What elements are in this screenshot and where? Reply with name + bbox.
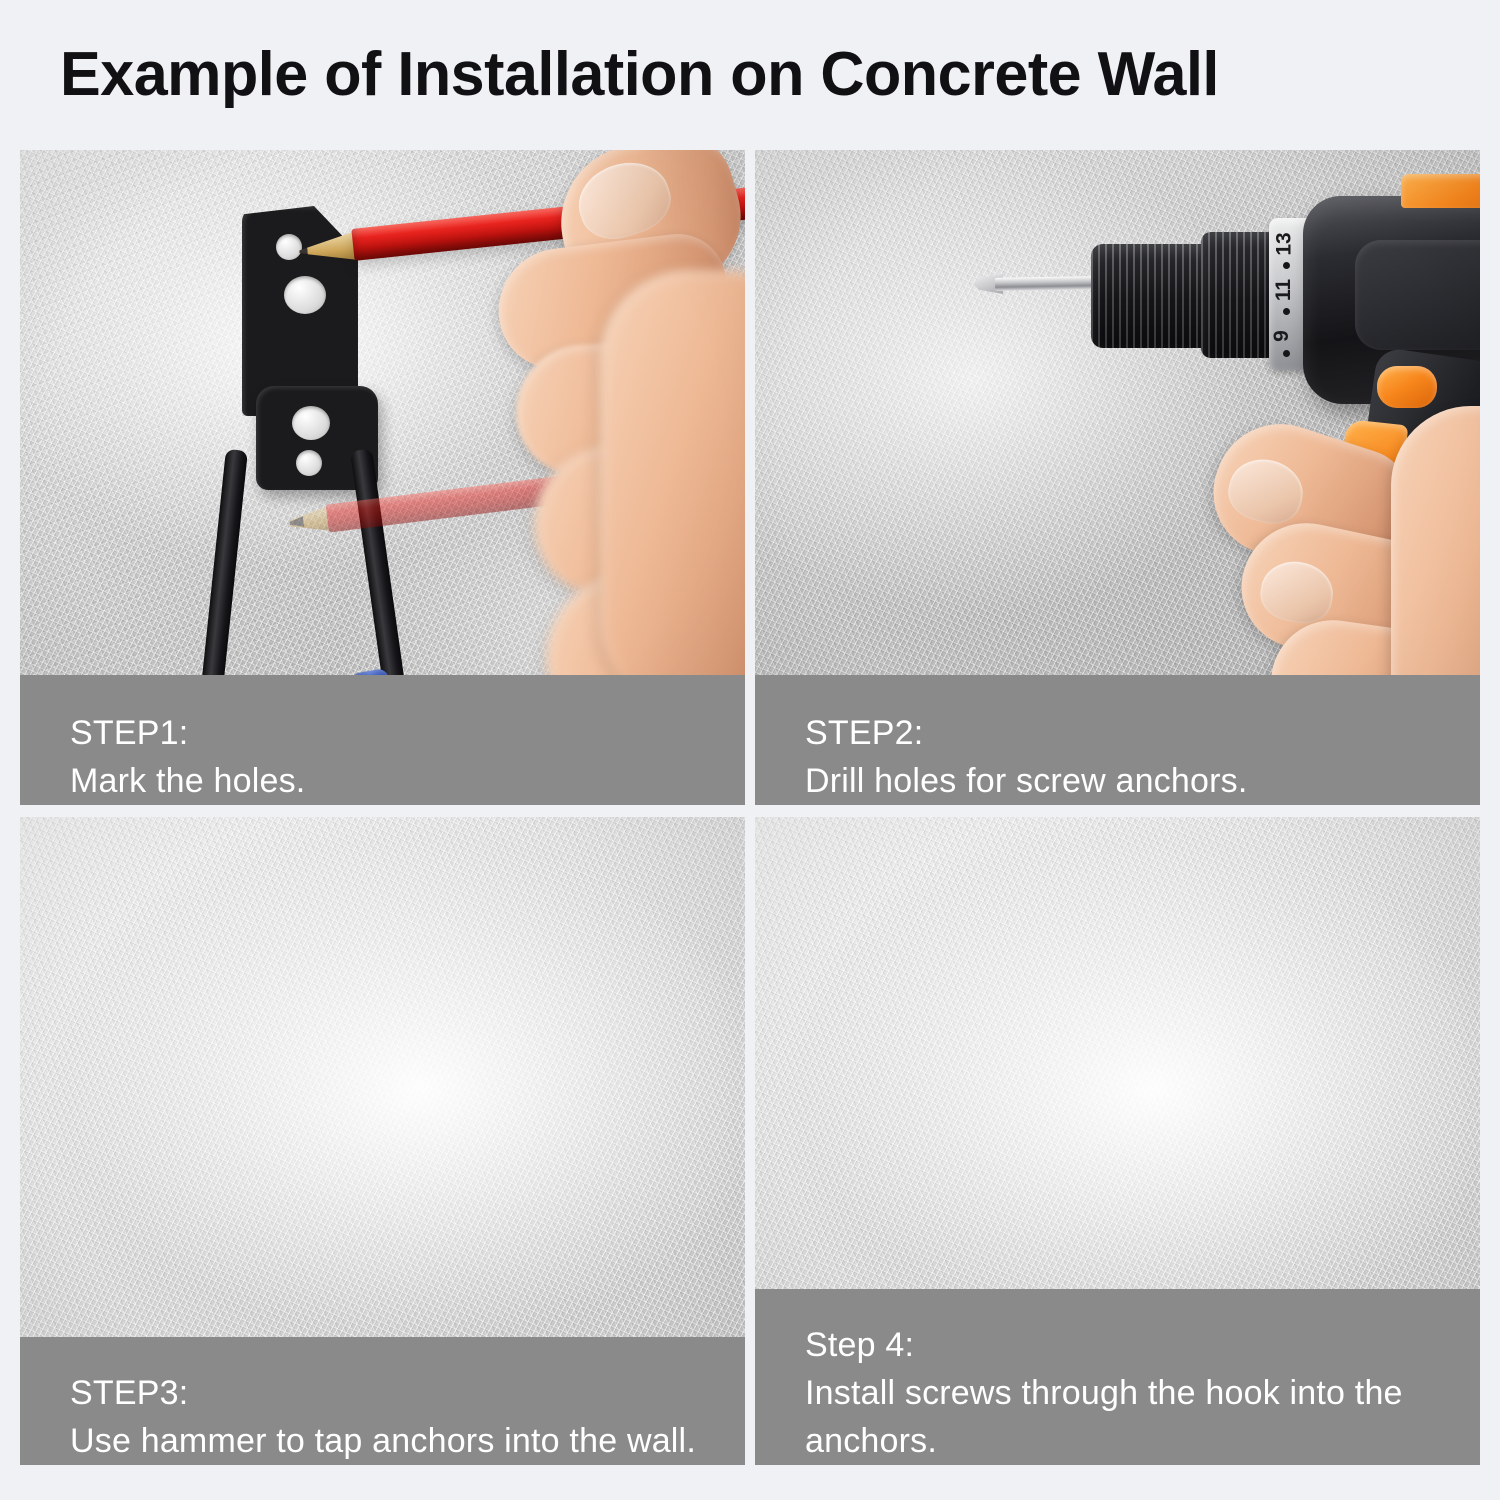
step-3-label: STEP3: [70,1369,745,1417]
collar-number-13: 13 [1273,232,1297,255]
collar-dot-3 [1283,350,1290,357]
drill-chuck [1091,244,1213,348]
step-3-text: Use hammer to tap anchors into the wall. [70,1417,745,1465]
collar-dot-2 [1283,308,1290,315]
step-card-2: 13 11 9 [755,150,1480,805]
step-3-caption: STEP3: Use hammer to tap anchors into th… [20,1337,745,1465]
step-1-label: STEP1: [70,709,745,757]
step-card-3: STEP3: Use hammer to tap anchors into th… [20,817,745,1465]
installation-steps-grid: STEP1: Mark the holes. 13 11 9 [20,150,1480,1465]
step-4-label: Step 4: [805,1321,1480,1369]
mounting-hole-lower [292,406,330,440]
step-2-text: Drill holes for screw anchors. [805,757,1480,805]
step-card-4: Step 4: Install screws through the hook … [755,817,1480,1465]
palm [600,270,745,710]
drill-chuck-rear [1201,232,1277,358]
mounting-hole-upper-mid [284,276,326,314]
step-card-1: STEP1: Mark the holes. [20,150,745,805]
step-2-label: STEP2: [805,709,1480,757]
step-4-text: Install screws through the hook into the… [805,1369,1480,1465]
collar-dot-1 [1283,262,1290,269]
collar-number-11: 11 [1272,279,1296,301]
mounting-hole-bottom [296,450,322,476]
collar-number-9: 9 [1270,330,1294,342]
step-2-caption: STEP2: Drill holes for screw anchors. [755,675,1480,805]
step-4-caption: Step 4: Install screws through the hook … [755,1289,1480,1465]
page-title: Example of Installation on Concrete Wall [60,32,1439,118]
drill-body-pad [1355,240,1480,350]
step-1-text: Mark the holes. [70,757,745,805]
drill-bit [995,276,1099,291]
drill-orange-top-accent [1401,174,1480,208]
step-1-caption: STEP1: Mark the holes. [20,675,745,805]
